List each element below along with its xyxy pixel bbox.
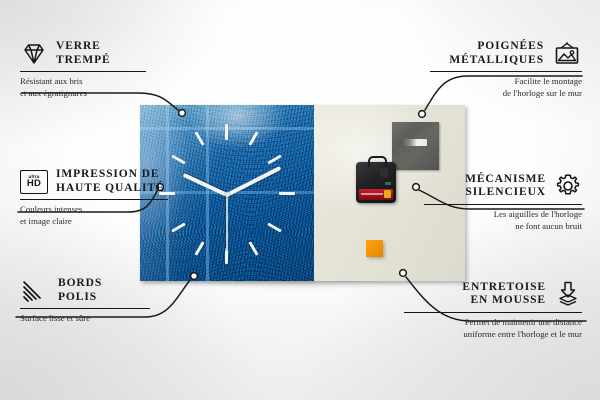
callout-rule — [424, 204, 582, 205]
hanger-slot — [401, 139, 427, 146]
callout-title-line2: EN MOUSSE — [462, 294, 546, 308]
callout-rule — [20, 199, 168, 200]
callout-header: VERRE TREMPÉ — [20, 40, 160, 67]
callout-title-line1: MÉCANISME — [465, 173, 546, 187]
metal-grain — [392, 122, 439, 170]
callout-mecanisme-silencieux[interactable]: MÉCANISME SILENCIEUX Les aiguilles de l'… — [424, 172, 582, 232]
quartz-mechanism — [356, 162, 396, 203]
callout-title-line1: IMPRESSION DE — [56, 168, 165, 182]
callout-poignees-metalliques[interactable]: POIGNÉES MÉTALLIQUES Facilite le montage… — [430, 40, 582, 99]
ultra-hd-icon-main: HD — [27, 179, 41, 189]
callout-verre-trempe[interactable]: VERRE TREMPÉ Résistant aux bris et aux é… — [20, 40, 160, 99]
callout-header: ENTRETOISE EN MOUSSE — [404, 280, 582, 308]
callout-title-line1: ENTRETOISE — [462, 281, 546, 295]
callout-title-line1: BORDS — [58, 277, 102, 291]
callout-subtitle-line1: Résistant aux bris — [20, 76, 160, 87]
callout-header: ultra HD IMPRESSION DE HAUTE QUALITÉ — [20, 168, 190, 195]
ultra-hd-icon: ultra HD — [20, 170, 48, 194]
diamond-icon — [20, 42, 48, 66]
callout-subtitle-line2: ne font aucun bruit — [424, 221, 582, 232]
callout-bords-polis[interactable]: BORDS POLIS Surface lisse et sûre — [20, 277, 165, 324]
callout-rule — [20, 308, 150, 309]
callout-header: POIGNÉES MÉTALLIQUES — [430, 40, 582, 67]
mechanism-label-dot — [385, 182, 391, 185]
battery-plus-terminal — [384, 190, 391, 198]
callout-rule — [20, 71, 146, 72]
callout-title-line2: POLIS — [58, 291, 102, 305]
metal-hanger-plate — [392, 122, 439, 170]
battery — [359, 189, 393, 200]
mechanism-nib — [380, 168, 388, 177]
battery-stripe — [361, 193, 383, 195]
mechanism-hanger-loop — [368, 156, 387, 167]
clock-center-cap — [225, 192, 230, 197]
callout-header: MÉCANISME SILENCIEUX — [424, 172, 582, 200]
press-down-icon — [554, 280, 582, 308]
callout-title-line1: POIGNÉES — [449, 40, 544, 54]
gear-icon — [554, 172, 582, 200]
polished-edges-icon — [20, 279, 50, 303]
callout-title-line2: HAUTE QUALITÉ — [56, 182, 165, 196]
callout-subtitle-line1: Surface lisse et sûre — [20, 313, 165, 324]
foam-spacer — [366, 240, 383, 257]
infographic-canvas: VERRE TREMPÉ Résistant aux bris et aux é… — [0, 0, 600, 400]
callout-subtitle-line2: et aux égratignures — [20, 88, 160, 99]
clock-hand-second — [226, 195, 228, 251]
callout-rule — [430, 71, 582, 72]
callout-title-line1: VERRE — [56, 40, 111, 54]
callout-entretoise-en-mousse[interactable]: ENTRETOISE EN MOUSSE Permet de maintenir… — [404, 280, 582, 340]
callout-subtitle-line1: Permet de maintenir une distance — [404, 317, 582, 328]
callout-header: BORDS POLIS — [20, 277, 165, 304]
picture-frame-icon — [552, 41, 582, 67]
callout-title-line2: MÉTALLIQUES — [449, 54, 544, 68]
callout-subtitle-line1: Les aiguilles de l'horloge — [424, 209, 582, 220]
callout-rule — [404, 312, 582, 313]
callout-subtitle-line2: de l'horloge sur le mur — [430, 88, 582, 99]
callout-subtitle-line1: Facilite le montage — [430, 76, 582, 87]
callout-subtitle-line1: Couleurs intenses — [20, 204, 190, 215]
callout-title-line2: SILENCIEUX — [465, 186, 546, 200]
callout-subtitle-line2: uniforme entre l'horloge et le mur — [404, 329, 582, 340]
callout-title-line2: TREMPÉ — [56, 54, 111, 68]
clock-tick — [279, 192, 295, 195]
callout-subtitle-line2: et image claire — [20, 216, 190, 227]
clock-tick — [225, 124, 228, 140]
callout-impression-haute-qualite[interactable]: ultra HD IMPRESSION DE HAUTE QUALITÉ Cou… — [20, 168, 190, 227]
